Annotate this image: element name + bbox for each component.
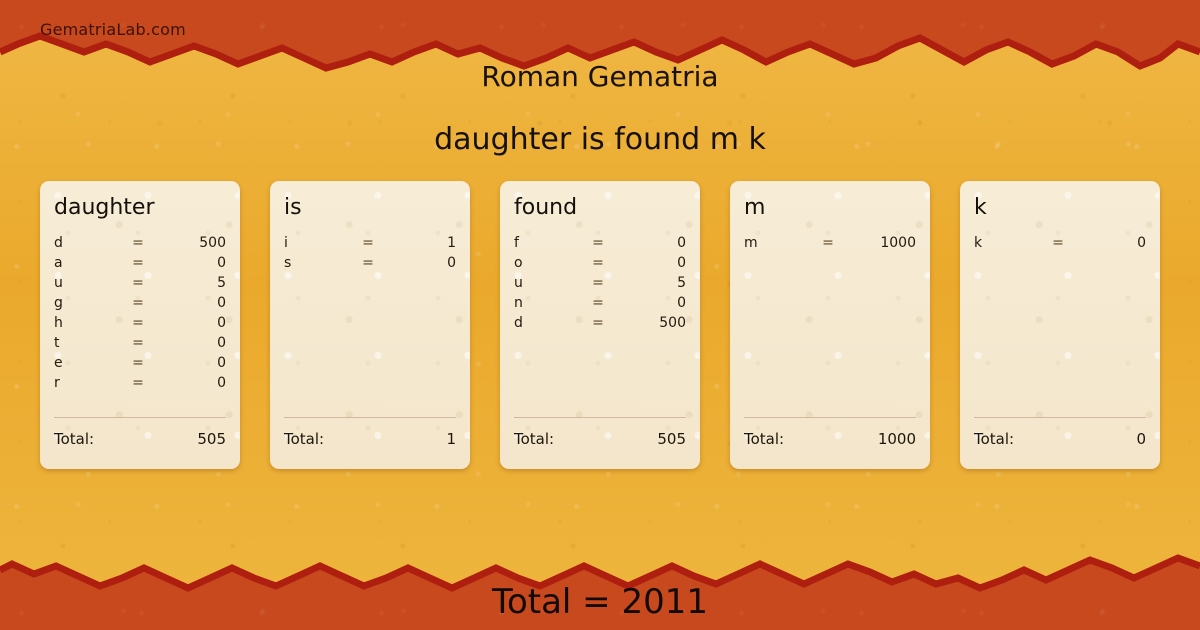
equals-sign: = xyxy=(566,315,630,331)
letter-label: u xyxy=(54,275,106,291)
word-card-title: m xyxy=(744,195,916,221)
card-total-label: Total: xyxy=(284,430,324,448)
letter-value-row: s=0 xyxy=(284,255,456,275)
card-divider xyxy=(284,417,456,418)
card-divider xyxy=(974,417,1146,418)
word-card-title: is xyxy=(284,195,456,221)
letter-label: e xyxy=(54,355,106,371)
letter-label: o xyxy=(514,255,566,271)
letter-value-row: u=5 xyxy=(54,275,226,295)
card-total-line: Total:505 xyxy=(54,430,226,448)
letter-label: i xyxy=(284,235,336,251)
letter-label: n xyxy=(514,295,566,311)
equals-sign: = xyxy=(106,275,170,291)
word-card-footer: Total:1000 xyxy=(744,417,916,448)
letter-value-rows: d=500a=0u=5g=0h=0t=0e=0r=0 xyxy=(54,235,226,395)
card-divider xyxy=(54,417,226,418)
card-total-label: Total: xyxy=(514,430,554,448)
letter-value: 1000 xyxy=(860,235,916,251)
letter-label: u xyxy=(514,275,566,291)
card-total-value: 1 xyxy=(446,430,456,448)
word-card-title: k xyxy=(974,195,1146,221)
letter-value: 0 xyxy=(170,335,226,351)
equals-sign: = xyxy=(1026,235,1090,251)
letter-label: h xyxy=(54,315,106,331)
letter-value: 0 xyxy=(170,295,226,311)
word-card-footer: Total:505 xyxy=(54,417,226,448)
card-total-value: 505 xyxy=(197,430,226,448)
word-card: daughterd=500a=0u=5g=0h=0t=0e=0r=0Total:… xyxy=(40,181,240,469)
equals-sign: = xyxy=(566,295,630,311)
letter-label: m xyxy=(744,235,796,251)
equals-sign: = xyxy=(566,275,630,291)
letter-value-row: n=0 xyxy=(514,295,686,315)
phrase-text: daughter is found m k xyxy=(0,122,1200,157)
word-card: isi=1s=0Total:1 xyxy=(270,181,470,469)
letter-label: r xyxy=(54,375,106,391)
letter-value: 500 xyxy=(170,235,226,251)
word-card-list: daughterd=500a=0u=5g=0h=0t=0e=0r=0Total:… xyxy=(40,181,1160,469)
letter-value-row: m=1000 xyxy=(744,235,916,255)
card-total-value: 1000 xyxy=(878,430,916,448)
word-card-title: daughter xyxy=(54,195,226,221)
letter-value: 0 xyxy=(170,355,226,371)
letter-value: 1 xyxy=(400,235,456,251)
letter-value-row: t=0 xyxy=(54,335,226,355)
letter-value-row: u=5 xyxy=(514,275,686,295)
word-card: mm=1000Total:1000 xyxy=(730,181,930,469)
card-divider xyxy=(514,417,686,418)
letter-label: d xyxy=(54,235,106,251)
card-total-line: Total:505 xyxy=(514,430,686,448)
equals-sign: = xyxy=(106,315,170,331)
card-total-label: Total: xyxy=(744,430,784,448)
letter-value: 0 xyxy=(170,315,226,331)
equals-sign: = xyxy=(566,255,630,271)
card-total-line: Total:1000 xyxy=(744,430,916,448)
letter-value-row: d=500 xyxy=(514,315,686,335)
letter-value-rows: m=1000 xyxy=(744,235,916,255)
letter-value: 0 xyxy=(400,255,456,271)
letter-value-row: g=0 xyxy=(54,295,226,315)
word-card-title: found xyxy=(514,195,686,221)
letter-value-row: i=1 xyxy=(284,235,456,255)
letter-value-row: d=500 xyxy=(54,235,226,255)
letter-value-row: k=0 xyxy=(974,235,1146,255)
equals-sign: = xyxy=(106,235,170,251)
equals-sign: = xyxy=(796,235,860,251)
word-card: kk=0Total:0 xyxy=(960,181,1160,469)
site-logo[interactable]: GematriaLab.com xyxy=(40,20,186,39)
equals-sign: = xyxy=(336,235,400,251)
word-card-footer: Total:505 xyxy=(514,417,686,448)
gematria-result-page: GematriaLab.com Roman Gematria daughter … xyxy=(0,0,1200,630)
letter-value: 0 xyxy=(630,235,686,251)
letter-value-row: r=0 xyxy=(54,375,226,395)
letter-value: 0 xyxy=(630,255,686,271)
letter-value-row: h=0 xyxy=(54,315,226,335)
letter-value: 0 xyxy=(630,295,686,311)
letter-value-row: o=0 xyxy=(514,255,686,275)
letter-value: 5 xyxy=(170,275,226,291)
letter-label: d xyxy=(514,315,566,331)
letter-value-row: e=0 xyxy=(54,355,226,375)
card-total-value: 0 xyxy=(1136,430,1146,448)
word-card: foundf=0o=0u=5n=0d=500Total:505 xyxy=(500,181,700,469)
letter-label: k xyxy=(974,235,1026,251)
letter-label: s xyxy=(284,255,336,271)
word-card-footer: Total:1 xyxy=(284,417,456,448)
letter-value-rows: f=0o=0u=5n=0d=500 xyxy=(514,235,686,335)
letter-label: a xyxy=(54,255,106,271)
word-card-footer: Total:0 xyxy=(974,417,1146,448)
letter-value-rows: i=1s=0 xyxy=(284,235,456,275)
equals-sign: = xyxy=(106,295,170,311)
letter-value: 0 xyxy=(1090,235,1146,251)
letter-label: t xyxy=(54,335,106,351)
equals-sign: = xyxy=(106,335,170,351)
card-total-label: Total: xyxy=(54,430,94,448)
letter-label: g xyxy=(54,295,106,311)
letter-value: 500 xyxy=(630,315,686,331)
letter-value: 5 xyxy=(630,275,686,291)
equals-sign: = xyxy=(106,375,170,391)
card-total-line: Total:1 xyxy=(284,430,456,448)
card-total-value: 505 xyxy=(657,430,686,448)
equals-sign: = xyxy=(336,255,400,271)
card-divider xyxy=(744,417,916,418)
letter-value: 0 xyxy=(170,255,226,271)
page-title: Roman Gematria xyxy=(0,60,1200,93)
letter-value-rows: k=0 xyxy=(974,235,1146,255)
letter-value: 0 xyxy=(170,375,226,391)
grand-total: Total = 2011 xyxy=(0,582,1200,622)
equals-sign: = xyxy=(106,355,170,371)
equals-sign: = xyxy=(566,235,630,251)
card-total-line: Total:0 xyxy=(974,430,1146,448)
letter-value-row: a=0 xyxy=(54,255,226,275)
letter-value-row: f=0 xyxy=(514,235,686,255)
equals-sign: = xyxy=(106,255,170,271)
card-total-label: Total: xyxy=(974,430,1014,448)
letter-label: f xyxy=(514,235,566,251)
